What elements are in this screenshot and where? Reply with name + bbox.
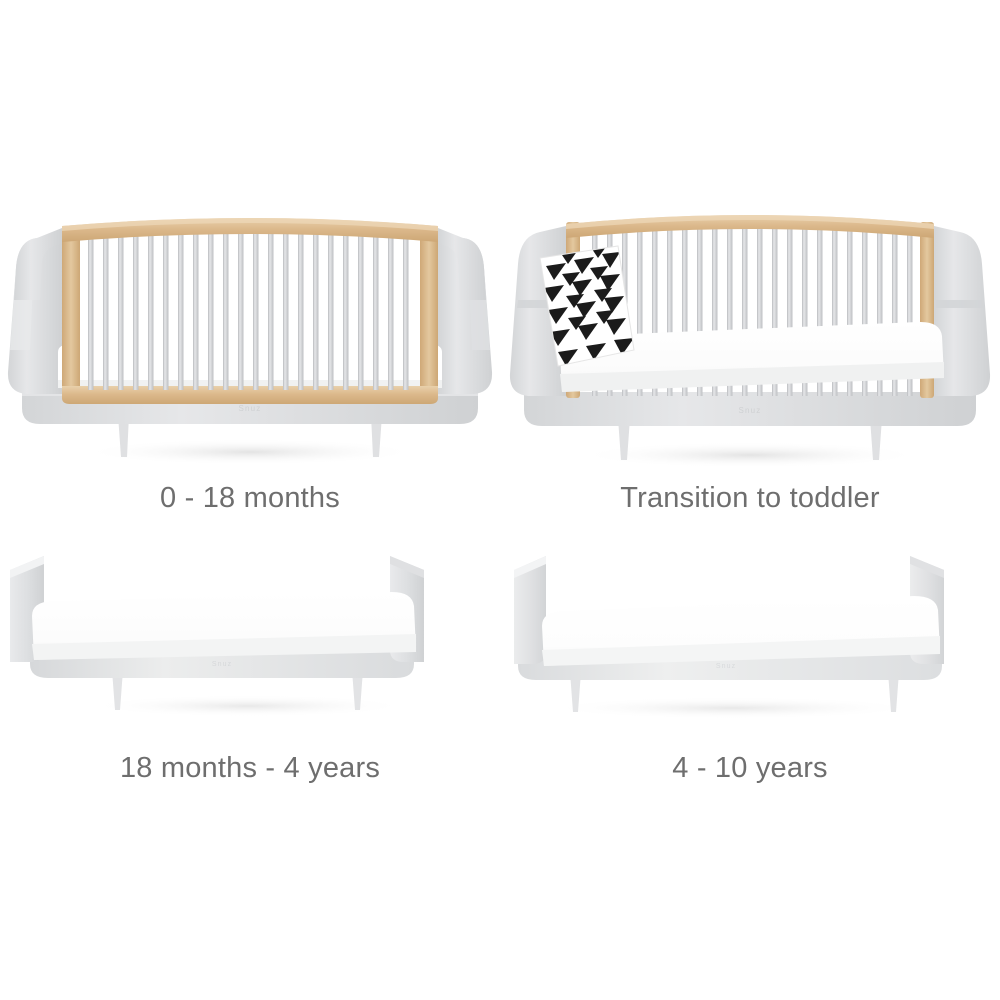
cot-side-rail-removed-toddler-figure: Snuz	[500, 0, 1000, 480]
spindle	[328, 228, 334, 390]
junior-bed-short-figure: Snuz	[0, 530, 500, 750]
spindle	[163, 228, 169, 390]
stage-caption-toddler: Transition to toddler	[500, 482, 1000, 515]
stage-caption-junior-bed: 18 months - 4 years	[0, 752, 500, 785]
spindle	[208, 228, 214, 390]
spindle	[283, 228, 289, 390]
stage-card-toddler[interactable]: Snuz	[500, 0, 1000, 530]
spindle	[118, 228, 124, 390]
floor-shadow	[578, 442, 922, 468]
kid-bed-extended-figure: Snuz	[500, 530, 1000, 750]
spindle	[373, 228, 379, 390]
spindle	[103, 228, 109, 390]
stage-card-cot[interactable]: Snuz	[0, 0, 500, 530]
spindle	[193, 228, 199, 390]
spindle	[313, 228, 319, 390]
oak-upright-left	[62, 226, 80, 396]
brand-mark: Snuz	[738, 406, 761, 415]
stage-caption-kid-bed: 4 - 10 years	[500, 752, 1000, 785]
stage-caption-cot: 0 - 18 months	[0, 482, 500, 515]
spindle	[223, 228, 229, 390]
stage-card-junior-bed[interactable]: Snuz 18 months - 4 years	[0, 530, 500, 850]
spindle	[133, 228, 139, 390]
stage-card-kid-bed[interactable]: Snuz 4 - 10 years	[500, 530, 1000, 850]
floor-shadow	[82, 439, 418, 465]
end-panel-right-seam	[936, 300, 983, 308]
spindle	[148, 228, 154, 390]
spindle	[343, 228, 349, 390]
spindle	[253, 228, 259, 390]
floor-shadow	[546, 697, 918, 719]
oak-upright-right	[420, 226, 438, 396]
spindle	[268, 228, 274, 390]
brand-mark: Snuz	[238, 404, 261, 413]
spindle	[178, 228, 184, 390]
cot-with-full-side-rail-figure: Snuz	[0, 0, 500, 480]
spindle	[358, 228, 364, 390]
spindle	[298, 228, 304, 390]
brand-mark: Snuz	[716, 663, 736, 670]
spindle	[403, 228, 409, 390]
brand-mark: Snuz	[212, 661, 232, 668]
spindle	[388, 228, 394, 390]
stage-grid: Snuz	[0, 0, 1000, 1000]
spindle	[238, 228, 244, 390]
spindle	[88, 228, 94, 390]
